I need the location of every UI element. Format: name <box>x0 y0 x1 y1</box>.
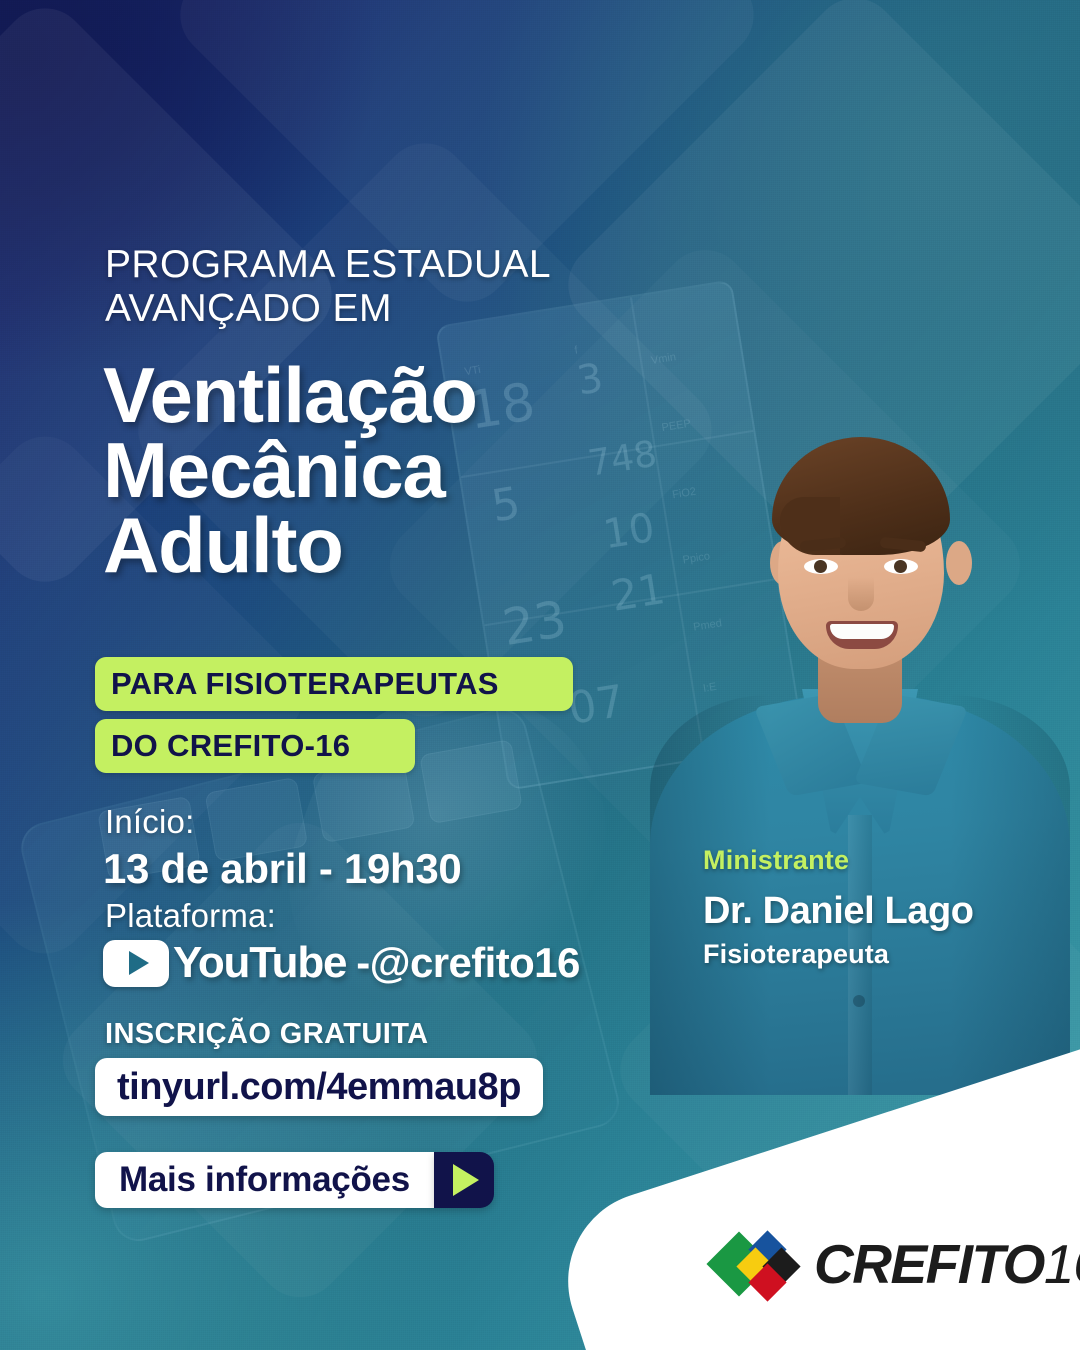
crefito-wordmark: CREFITO16 <box>814 1232 1080 1296</box>
platform-row[interactable]: YouTube -@crefito16 <box>103 938 580 988</box>
crefito-brand: CREFITO <box>814 1233 1044 1295</box>
registration-url[interactable]: tinyurl.com/4emmau8p <box>95 1058 543 1116</box>
youtube-handle: -@crefito16 <box>356 939 579 987</box>
program-eyebrow: PROGRAMA ESTADUAL AVANÇADO EM <box>105 243 645 330</box>
play-icon <box>434 1152 494 1208</box>
audience-badge-line-2: DO CREFITO-16 <box>95 719 415 773</box>
more-info-label: Mais informações <box>95 1152 434 1208</box>
crefito-diamonds-icon <box>716 1228 800 1300</box>
title-line-2: Mecânica <box>103 433 663 508</box>
promotional-poster: 18 3 748 5 10 23 21 07 VTi f PEEP FiO2 P… <box>0 0 1080 1350</box>
crefito-number: 16 <box>1044 1233 1080 1295</box>
youtube-icon <box>103 940 169 987</box>
speaker-name: Dr. Daniel Lago <box>703 890 974 933</box>
platform-label: Plataforma: <box>105 897 276 935</box>
more-info-button[interactable]: Mais informações <box>95 1152 494 1208</box>
speaker-profession: Fisioterapeuta <box>703 939 974 970</box>
speaker-block: Ministrante Dr. Daniel Lago Fisioterapeu… <box>703 845 974 970</box>
free-registration-label: INSCRIÇÃO GRATUITA <box>105 1018 429 1051</box>
audience-badge-line-1: PARA FISIOTERAPEUTAS <box>95 657 573 711</box>
crefito-logo: CREFITO16 <box>716 1228 1080 1300</box>
speaker-role: Ministrante <box>703 845 974 876</box>
youtube-wordmark: YouTube <box>173 938 346 988</box>
start-datetime: 13 de abril - 19h30 <box>103 845 461 893</box>
title-line-1: Ventilação <box>103 358 663 433</box>
title-line-3: Adulto <box>103 508 663 583</box>
start-label: Início: <box>105 803 194 841</box>
page-title: Ventilação Mecânica Adulto <box>103 358 663 583</box>
